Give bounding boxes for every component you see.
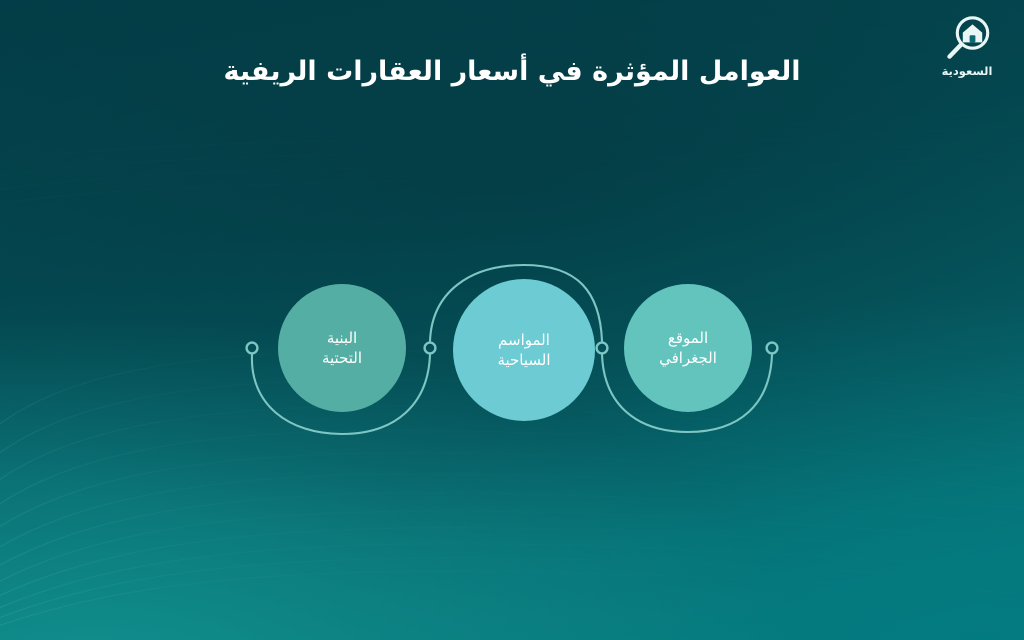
- diagram-circle-infrastructure[interactable]: [278, 284, 406, 412]
- infographic-canvas: السعودية العوامل المؤثرة في أسعار العقار…: [0, 0, 1024, 640]
- diagram-circle-geographic-location[interactable]: [624, 284, 752, 412]
- process-diagram: [0, 0, 1024, 640]
- connector-node-marker-start[interactable]: [247, 343, 258, 354]
- connector-node-marker-1[interactable]: [425, 343, 436, 354]
- diagram-circle-tourist-seasons[interactable]: [453, 279, 595, 421]
- connector-node-marker-end[interactable]: [767, 343, 778, 354]
- diagram-circles: [278, 279, 752, 421]
- connector-node-marker-2[interactable]: [597, 343, 608, 354]
